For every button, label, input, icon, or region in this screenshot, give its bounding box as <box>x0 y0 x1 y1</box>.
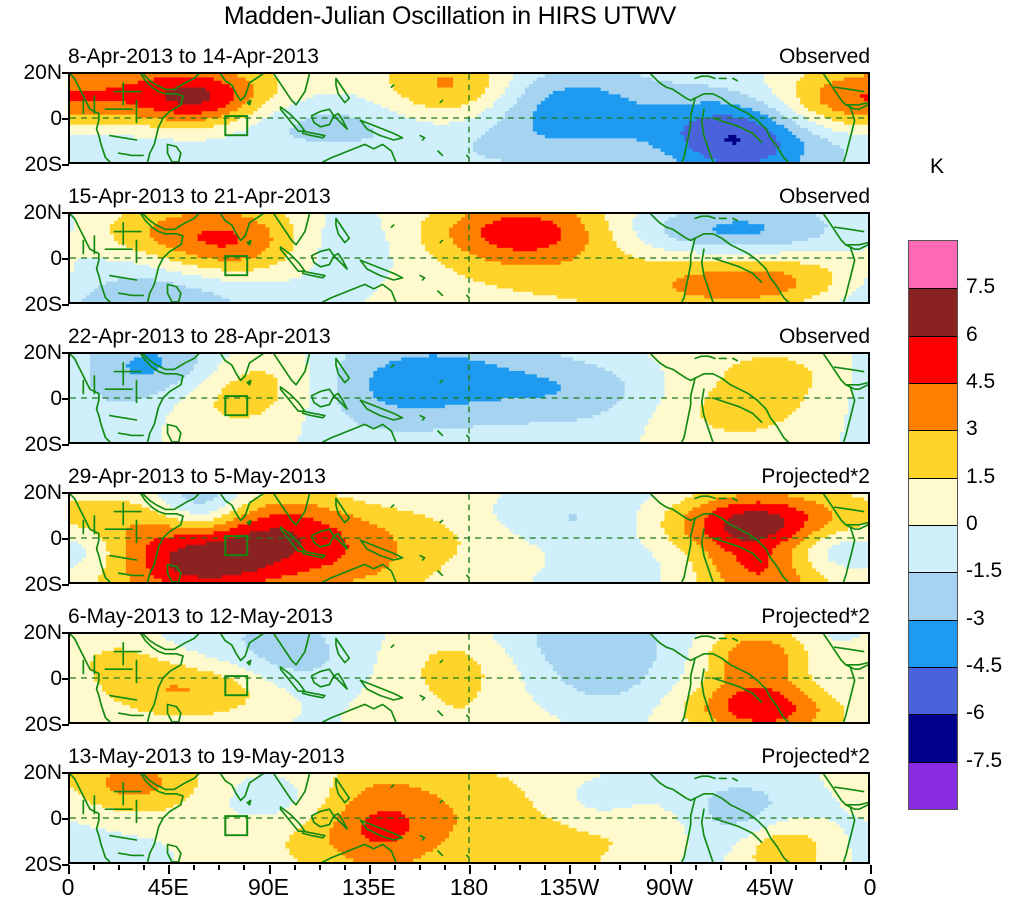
y-axis-tick <box>62 164 69 166</box>
panel-date-range: 13-May-2013 to 19-May-2013 <box>68 745 345 769</box>
colorbar-band <box>909 383 957 430</box>
colorbar-tick-label: -3 <box>966 607 985 631</box>
x-axis-tick-major <box>269 865 271 874</box>
y-axis-label-20s: 20S <box>0 853 62 877</box>
map-panel-6: 13-May-2013 to 19-May-2013Projected*2 <box>68 772 870 864</box>
x-axis-tick-minor <box>218 865 220 870</box>
map-plot-area[interactable] <box>68 212 870 304</box>
panel-kind-label: Projected*2 <box>761 605 870 629</box>
y-axis-label-20s: 20S <box>0 713 62 737</box>
x-axis-tick-minor <box>243 865 245 870</box>
colorbar-band <box>909 762 957 809</box>
x-axis-tick-minor <box>494 865 496 870</box>
x-axis-tick-minor <box>394 865 396 870</box>
x-axis-tick-minor <box>745 865 747 870</box>
y-axis-tick <box>62 444 69 446</box>
x-axis-label: 45E <box>148 874 189 901</box>
anomaly-field <box>70 214 868 302</box>
colorbar-unit-label: K <box>930 155 944 179</box>
panel-date-range: 8-Apr-2013 to 14-Apr-2013 <box>68 45 319 69</box>
anomaly-field <box>70 774 868 862</box>
x-axis-tick-major <box>870 865 872 874</box>
panel-kind-label: Observed <box>779 185 870 209</box>
colorbar-tick-label: 3 <box>966 417 978 441</box>
x-axis-tick-minor <box>795 865 797 870</box>
x-axis-label: 135W <box>539 874 599 901</box>
colorbar-band <box>909 241 957 288</box>
x-axis-label: 180 <box>450 874 488 901</box>
y-axis-tick <box>62 72 69 74</box>
colorbar-tick-label: 0 <box>966 512 978 536</box>
colorbar-tick-label: 4.5 <box>966 370 995 394</box>
x-axis-tick-minor <box>720 865 722 870</box>
colorbar-band <box>909 288 957 335</box>
y-axis-label-0: 0 <box>0 807 62 831</box>
y-axis-label-20s: 20S <box>0 293 62 317</box>
x-axis-tick-minor <box>319 865 321 870</box>
y-axis-label-20s: 20S <box>0 153 62 177</box>
y-axis-tick <box>62 352 69 354</box>
colorbar-tick-label: 6 <box>966 323 978 347</box>
y-axis-tick <box>62 492 69 494</box>
colorbar-band <box>909 714 957 761</box>
panel-date-range: 15-Apr-2013 to 21-Apr-2013 <box>68 185 331 209</box>
colorbar-band <box>909 430 957 477</box>
y-axis-tick <box>62 304 69 306</box>
y-axis-label-20n: 20N <box>0 481 62 505</box>
x-axis-tick-minor <box>193 865 195 870</box>
y-axis-label-0: 0 <box>0 107 62 131</box>
x-axis-label: 45W <box>746 874 793 901</box>
x-axis-tick-major <box>68 865 70 874</box>
colorbar-band <box>909 667 957 714</box>
panel-date-range: 22-Apr-2013 to 28-Apr-2013 <box>68 325 331 349</box>
y-axis-label-20s: 20S <box>0 433 62 457</box>
y-axis-tick <box>62 818 69 820</box>
y-axis-tick <box>62 864 69 866</box>
x-axis-label: 90E <box>248 874 289 901</box>
map-panel-4: 29-Apr-2013 to 5-May-2013Projected*2 <box>68 492 870 584</box>
y-axis-label-20s: 20S <box>0 573 62 597</box>
x-axis-tick-major <box>369 865 371 874</box>
y-axis-tick <box>62 584 69 586</box>
colorbar-band <box>909 620 957 667</box>
x-axis-label: 0 <box>864 874 877 901</box>
x-axis-tick-minor <box>619 865 621 870</box>
y-axis-label-0: 0 <box>0 527 62 551</box>
y-axis-tick <box>62 212 69 214</box>
map-plot-area[interactable] <box>68 72 870 164</box>
y-axis-label-20n: 20N <box>0 621 62 645</box>
y-axis-tick <box>62 538 69 540</box>
map-plot-area[interactable] <box>68 352 870 444</box>
map-panel-3: 22-Apr-2013 to 28-Apr-2013Observed <box>68 352 870 444</box>
y-axis-label-20n: 20N <box>0 761 62 785</box>
map-plot-area[interactable] <box>68 492 870 584</box>
map-plot-area[interactable] <box>68 772 870 864</box>
x-axis-labels: 045E90E135E180135W90W45W0 <box>0 874 1024 908</box>
x-axis-label: 90W <box>646 874 693 901</box>
panel-kind-label: Observed <box>779 45 870 69</box>
x-axis-tick-minor <box>294 865 296 870</box>
x-axis-tick-minor <box>444 865 446 870</box>
y-axis-tick <box>62 724 69 726</box>
y-axis-tick <box>62 632 69 634</box>
colorbar-tick-label: 7.5 <box>966 275 995 299</box>
x-axis-tick-minor <box>519 865 521 870</box>
y-axis-label-0: 0 <box>0 247 62 271</box>
x-axis-tick-minor <box>118 865 120 870</box>
colorbar-band <box>909 525 957 572</box>
colorbar-tick-label: -6 <box>966 701 985 725</box>
y-axis-label-0: 0 <box>0 387 62 411</box>
panel-kind-label: Observed <box>779 325 870 349</box>
page-title: Madden-Julian Oscillation in HIRS UTWV <box>0 2 900 31</box>
anomaly-field <box>70 354 868 442</box>
x-axis-tick-minor <box>695 865 697 870</box>
x-axis-tick-minor <box>845 865 847 870</box>
x-axis-tick-minor <box>143 865 145 870</box>
x-axis-tick-major <box>168 865 170 874</box>
colorbar-tick-label: -7.5 <box>966 749 1002 773</box>
y-axis-tick <box>62 678 69 680</box>
x-axis-tick-minor <box>820 865 822 870</box>
x-axis-tick-minor <box>419 865 421 870</box>
colorbar-band <box>909 572 957 619</box>
colorbar-band <box>909 336 957 383</box>
x-axis-tick-minor <box>344 865 346 870</box>
x-axis-tick-minor <box>544 865 546 870</box>
map-plot-area[interactable] <box>68 632 870 724</box>
x-axis-label: 135E <box>342 874 396 901</box>
colorbar-tick-label: -1.5 <box>966 559 1002 583</box>
map-panel-5: 6-May-2013 to 12-May-2013Projected*2 <box>68 632 870 724</box>
colorbar-band <box>909 478 957 525</box>
y-axis-label-20n: 20N <box>0 61 62 85</box>
y-axis-tick <box>62 772 69 774</box>
x-axis-tick-major <box>569 865 571 874</box>
anomaly-field <box>70 494 868 582</box>
panel-kind-label: Projected*2 <box>761 745 870 769</box>
panel-date-range: 6-May-2013 to 12-May-2013 <box>68 605 333 629</box>
panel-date-range: 29-Apr-2013 to 5-May-2013 <box>68 465 326 489</box>
panel-kind-label: Projected*2 <box>761 465 870 489</box>
y-axis-label-20n: 20N <box>0 341 62 365</box>
x-axis-tick-major <box>469 865 471 874</box>
y-axis-tick <box>62 398 69 400</box>
y-axis-label-0: 0 <box>0 667 62 691</box>
anomaly-field <box>70 634 868 722</box>
x-axis-tick-major <box>770 865 772 874</box>
x-axis-tick-minor <box>644 865 646 870</box>
colorbar-tick-label: -4.5 <box>966 654 1002 678</box>
x-axis-tick-minor <box>93 865 95 870</box>
x-axis-tick-minor <box>594 865 596 870</box>
y-axis-label-20n: 20N <box>0 201 62 225</box>
map-panel-2: 15-Apr-2013 to 21-Apr-2013Observed <box>68 212 870 304</box>
anomaly-field <box>70 74 868 162</box>
x-axis-label: 0 <box>62 874 75 901</box>
x-axis-tick-major <box>670 865 672 874</box>
colorbar[interactable] <box>908 240 958 810</box>
colorbar-tick-label: 1.5 <box>966 465 995 489</box>
y-axis-tick <box>62 258 69 260</box>
y-axis-tick <box>62 118 69 120</box>
map-panel-1: 8-Apr-2013 to 14-Apr-2013Observed <box>68 72 870 164</box>
